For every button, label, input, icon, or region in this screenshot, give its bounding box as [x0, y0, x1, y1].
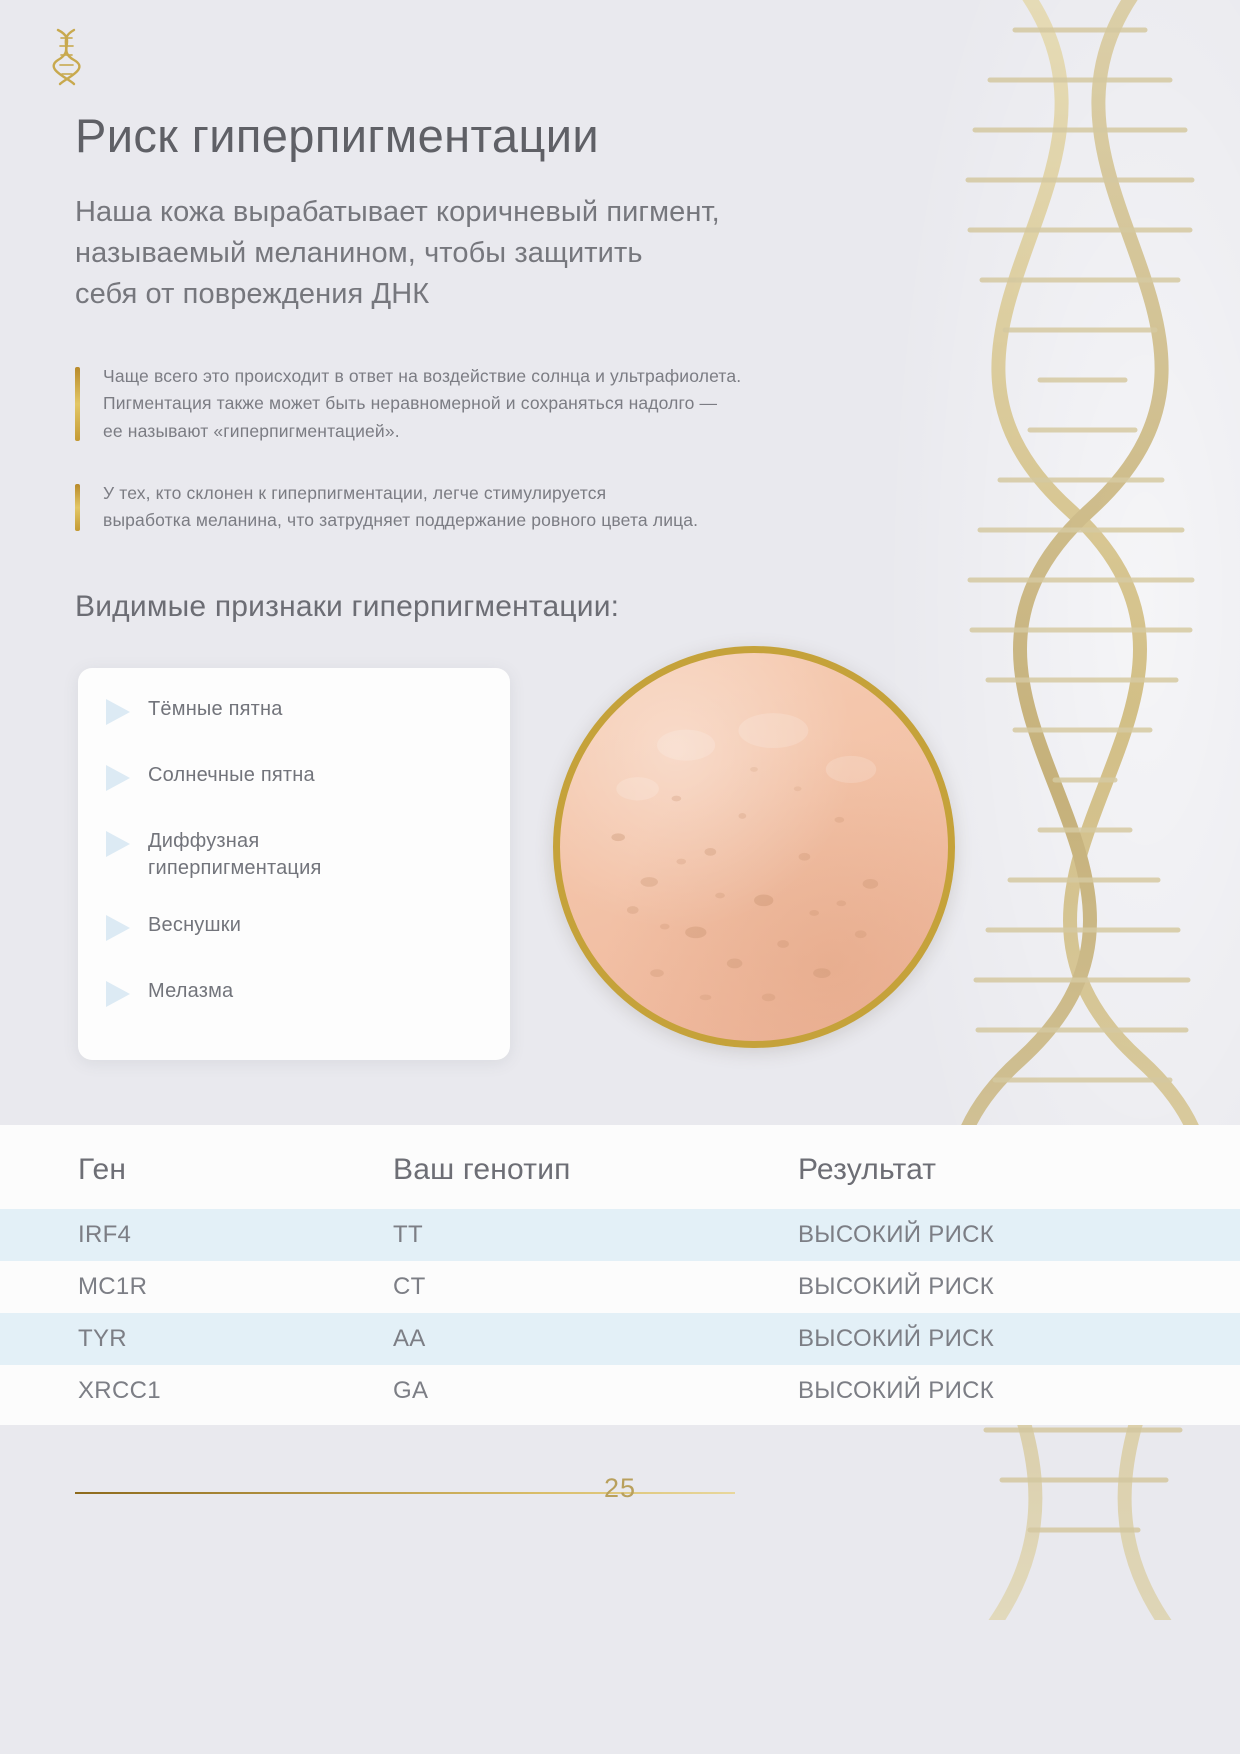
triangle-marker-icon — [106, 765, 130, 791]
skin-hyperpigmentation-photo — [553, 646, 955, 1048]
list-item: Диффузная гиперпигментация — [106, 828, 510, 912]
table-row: IRF4 TT ВЫСОКИЙ РИСК — [0, 1209, 1240, 1261]
cell-genotype: AA — [393, 1313, 798, 1365]
callout-2-line-1: У тех, кто склонен к гиперпигментации, л… — [103, 480, 1033, 507]
status-badge: ВЫСОКИЙ РИСК — [798, 1313, 1240, 1365]
cell-genotype: TT — [393, 1209, 798, 1261]
list-item: Тёмные пятна — [106, 696, 510, 762]
report-page: Риск гиперпигментации Наша кожа вырабаты… — [0, 0, 1240, 1754]
page-subtitle: Наша кожа вырабатывает коричневый пигмен… — [75, 192, 955, 316]
genotype-table-section: Ген Ваш генотип Результат IRF4 TT ВЫСОКИ… — [0, 1125, 1240, 1425]
callout-block-1: Чаще всего это происходит в ответ на воз… — [75, 363, 1033, 445]
callout-1-line-1: Чаще всего это происходит в ответ на воз… — [103, 363, 1033, 390]
table-header-row: Ген Ваш генотип Результат — [0, 1125, 1240, 1209]
cell-genotype: GA — [393, 1365, 798, 1417]
callout-accent-bar — [75, 367, 80, 441]
list-item: Веснушки — [106, 912, 510, 978]
column-header-genotype: Ваш генотип — [393, 1125, 798, 1209]
cell-gene: IRF4 — [0, 1209, 393, 1261]
page-number: 25 — [0, 1473, 1240, 1504]
subtitle-line-2: называемый меланином, чтобы защитить — [75, 233, 955, 274]
table-row: MC1R CT ВЫСОКИЙ РИСК — [0, 1261, 1240, 1313]
callout-1-line-3: ее называют «гиперпигментацией». — [103, 418, 1033, 445]
sign-label: Тёмные пятна — [148, 696, 283, 723]
sign-label: Диффузная гиперпигментация — [148, 828, 418, 882]
triangle-marker-icon — [106, 699, 130, 725]
cell-genotype: CT — [393, 1261, 798, 1313]
dna-helix-logo-icon — [44, 26, 90, 88]
callout-accent-bar — [75, 484, 80, 531]
subtitle-line-1: Наша кожа вырабатывает коричневый пигмен… — [75, 192, 955, 233]
column-header-result: Результат — [798, 1125, 1240, 1209]
cell-gene: XRCC1 — [0, 1365, 393, 1417]
triangle-marker-icon — [106, 915, 130, 941]
cell-gene: MC1R — [0, 1261, 393, 1313]
cell-gene: TYR — [0, 1313, 393, 1365]
callout-1-line-2: Пигментация также может быть неравномерн… — [103, 390, 1033, 417]
list-item: Солнечные пятна — [106, 762, 510, 828]
sign-label: Веснушки — [148, 912, 241, 939]
signs-section-heading: Видимые признаки гиперпигментации: — [75, 590, 619, 624]
column-header-gene: Ген — [0, 1125, 393, 1209]
list-item: Мелазма — [106, 978, 510, 1044]
status-badge: ВЫСОКИЙ РИСК — [798, 1209, 1240, 1261]
triangle-marker-icon — [106, 981, 130, 1007]
signs-list-card: Тёмные пятна Солнечные пятна Диффузная г… — [78, 668, 510, 1060]
status-badge: ВЫСОКИЙ РИСК — [798, 1261, 1240, 1313]
genotype-table: Ген Ваш генотип Результат IRF4 TT ВЫСОКИ… — [0, 1125, 1240, 1417]
callout-2-line-2: выработка меланина, что затрудняет подде… — [103, 507, 1033, 534]
triangle-marker-icon — [106, 831, 130, 857]
sign-label: Мелазма — [148, 978, 233, 1005]
status-badge: ВЫСОКИЙ РИСК — [798, 1365, 1240, 1417]
table-row: TYR AA ВЫСОКИЙ РИСК — [0, 1313, 1240, 1365]
table-row: XRCC1 GA ВЫСОКИЙ РИСК — [0, 1365, 1240, 1417]
callout-block-2: У тех, кто склонен к гиперпигментации, л… — [75, 480, 1033, 535]
sign-label: Солнечные пятна — [148, 762, 315, 789]
subtitle-line-3: себя от повреждения ДНК — [75, 274, 955, 315]
page-title: Риск гиперпигментации — [75, 108, 599, 163]
